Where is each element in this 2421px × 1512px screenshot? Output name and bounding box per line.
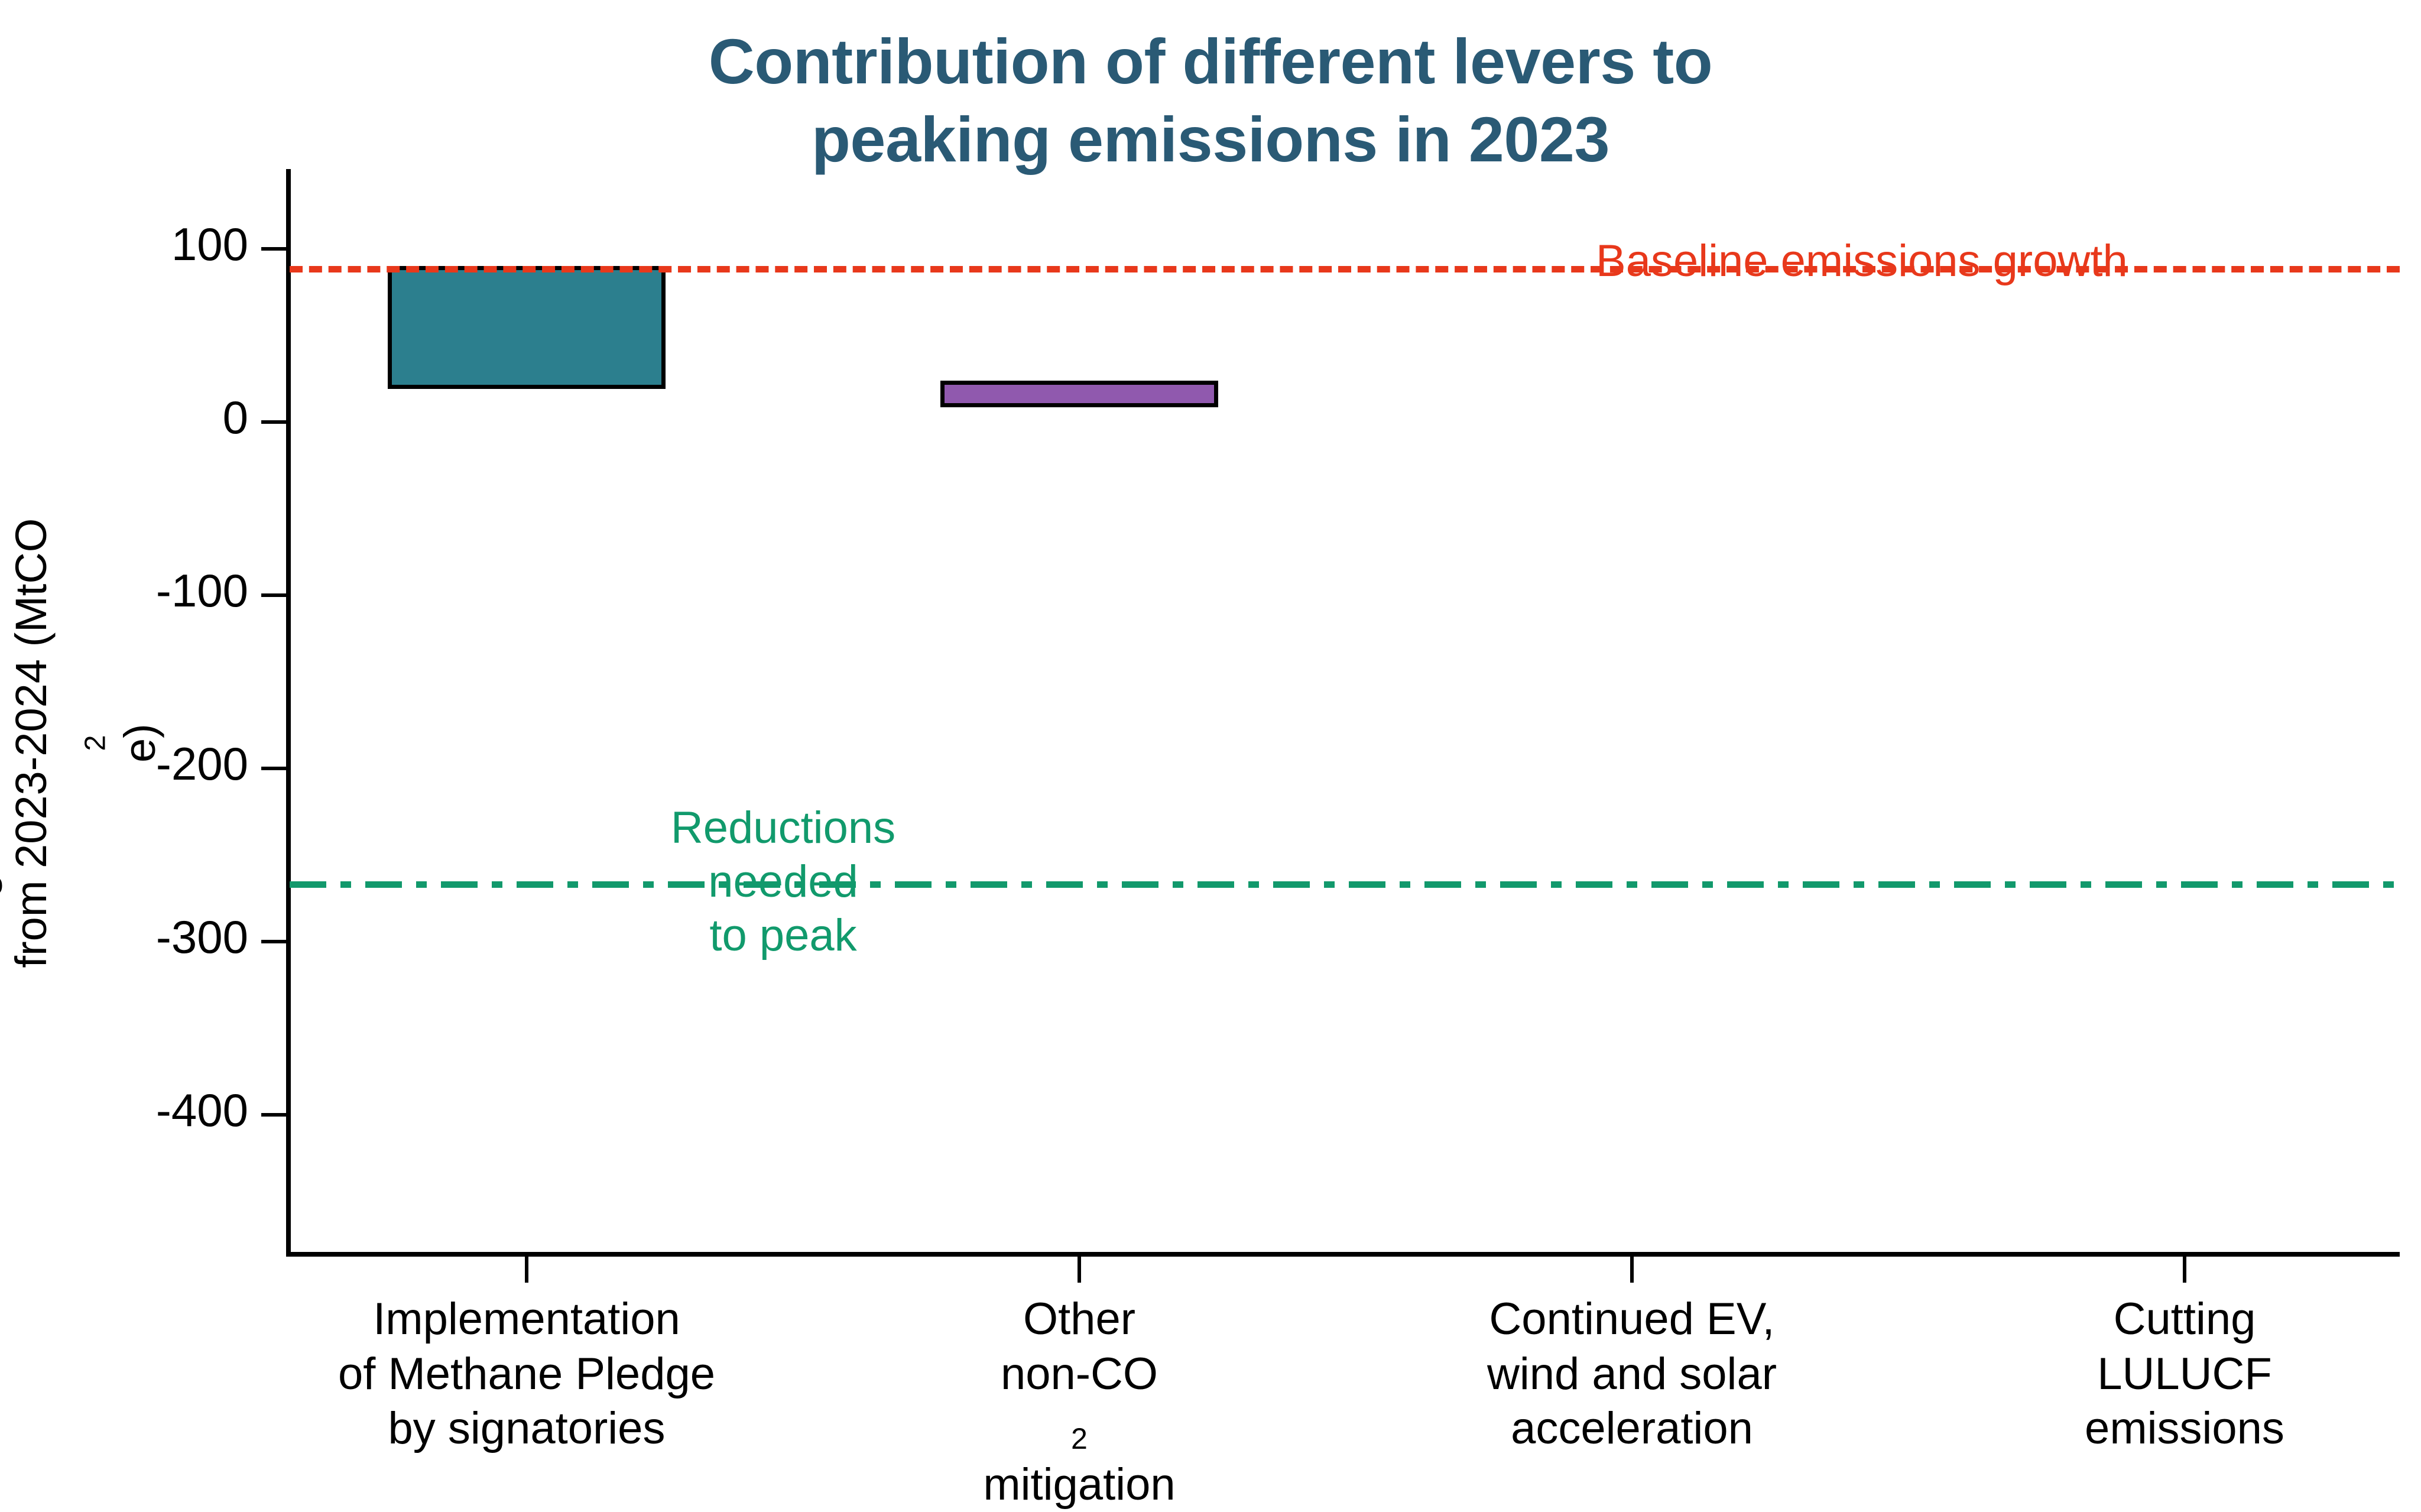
bar-other-non-co2-mitigation[interactable]	[940, 381, 1218, 407]
y-tick-label-minus-200: -200	[59, 741, 248, 787]
title-line-2: peaking emissions in 2023	[0, 100, 2421, 179]
x-tick-3	[1630, 1257, 1634, 1283]
x-label-2-line-2: non-CO2	[784, 1347, 1375, 1458]
chart-figure: Contribution of different levers to peak…	[0, 0, 2421, 1477]
x-label-3-line-1: Continued EV,	[1336, 1292, 1927, 1347]
reductions-annotation-line-2: needed	[644, 855, 922, 909]
x-axis-spine	[286, 1252, 2400, 1257]
y-tick-0	[261, 420, 287, 424]
reductions-needed-reference-line	[290, 881, 2400, 888]
bar-implementation-of-methane-pledge[interactable]	[388, 266, 666, 389]
reductions-annotation-label: Reductions needed to peak	[644, 801, 922, 963]
y-tick-minus-100	[261, 593, 287, 597]
baseline-annotation-label: Baseline emissions growth	[1596, 235, 2128, 287]
x-label-4-line-2: LULUCF	[1889, 1347, 2421, 1402]
y-tick-label-100: 100	[59, 221, 248, 267]
y-tick-100	[261, 247, 287, 251]
x-label-3-line-2: wind and solar	[1336, 1347, 1927, 1402]
x-tick-4	[2183, 1257, 2186, 1283]
x-label-4-line-1: Cutting	[1889, 1292, 2421, 1347]
reductions-annotation-line-3: to peak	[644, 909, 922, 962]
x-axis-label-continued-ev-wind-and-solar-acceleration: Continued EV, wind and solar acceleratio…	[1336, 1292, 1927, 1456]
y-tick-label-minus-300: -300	[59, 914, 248, 960]
x-label-2-line-3: mitigation	[784, 1458, 1375, 1512]
x-label-1-line-3: by signatories	[231, 1401, 822, 1456]
x-label-4-line-3: emissions	[1889, 1401, 2421, 1456]
reductions-annotation-line-1: Reductions	[644, 801, 922, 855]
x-axis-label-cutting-lulucf-emissions: Cutting LULUCF emissions	[1889, 1292, 2421, 1456]
x-label-1-line-2: of Methane Pledge	[231, 1347, 822, 1402]
x-label-2-line-1: Other	[784, 1292, 1375, 1347]
y-tick-minus-300	[261, 940, 287, 943]
x-tick-2	[1078, 1257, 1081, 1283]
y-axis-spine	[286, 169, 291, 1257]
y-tick-label-0: 0	[59, 394, 248, 440]
y-tick-minus-400	[261, 1113, 287, 1117]
title-line-1: Contribution of different levers to	[0, 22, 2421, 100]
y-tick-label-minus-400: -400	[59, 1087, 248, 1133]
y-axis-title-line-1: Change in GHG emissions	[0, 353, 5, 1133]
x-label-3-line-3: acceleration	[1336, 1401, 1927, 1456]
x-axis-label-implementation-of-methane-pledge: Implementation of Methane Pledge by sign…	[231, 1292, 822, 1456]
y-tick-label-minus-100: -100	[59, 567, 248, 614]
y-tick-minus-200	[261, 767, 287, 770]
page-title: Contribution of different levers to peak…	[0, 22, 2421, 179]
x-label-1-line-1: Implementation	[231, 1292, 822, 1347]
x-tick-1	[525, 1257, 528, 1283]
x-axis-label-other-non-co2-mitigation: Other non-CO2 mitigation	[784, 1292, 1375, 1512]
